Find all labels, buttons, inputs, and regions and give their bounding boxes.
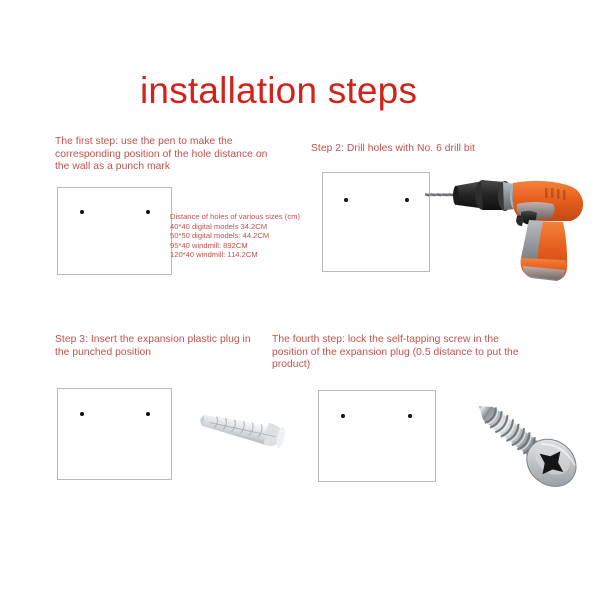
punch-mark-dot — [80, 210, 84, 214]
punch-mark-dot — [146, 210, 150, 214]
wall-panel-step-3 — [57, 388, 172, 480]
self-tapping-screw-icon — [470, 392, 590, 504]
punch-mark-dot — [405, 198, 409, 202]
cordless-drill-icon — [425, 176, 595, 286]
punch-mark-dot — [341, 414, 345, 418]
punch-mark-dot — [408, 414, 412, 418]
expansion-plastic-plug-icon — [196, 408, 288, 454]
punch-mark-dot — [146, 412, 150, 416]
table-header: Distance of holes of various sizes (cm) — [170, 212, 300, 222]
wall-panel-step-2 — [322, 172, 430, 272]
table-row: 40*40 digital models 34.2CM — [170, 222, 300, 232]
wall-panel-step-4 — [318, 390, 436, 482]
punch-mark-dot — [80, 412, 84, 416]
table-row: 50*50 digital models: 44.2CM — [170, 231, 300, 241]
punch-mark-dot — [344, 198, 348, 202]
step-2-text: Step 2: Drill holes with No. 6 drill bit — [311, 143, 561, 156]
step-3-text: Step 3: Insert the expansion plastic plu… — [55, 334, 255, 359]
hole-distance-table: Distance of holes of various sizes (cm) … — [170, 212, 300, 260]
table-row: 95*40 windmill: 892CM — [170, 241, 300, 251]
wall-panel-step-1 — [57, 187, 172, 275]
page-title: installation steps — [140, 70, 417, 112]
table-row: 120*40 windmill: 114.2CM — [170, 250, 300, 260]
step-4-text: The fourth step: lock the self-tapping s… — [272, 334, 520, 372]
step-1-text: The first step: use the pen to make the … — [55, 136, 270, 174]
installation-steps-diagram: installation steps The first step: use t… — [0, 0, 600, 600]
